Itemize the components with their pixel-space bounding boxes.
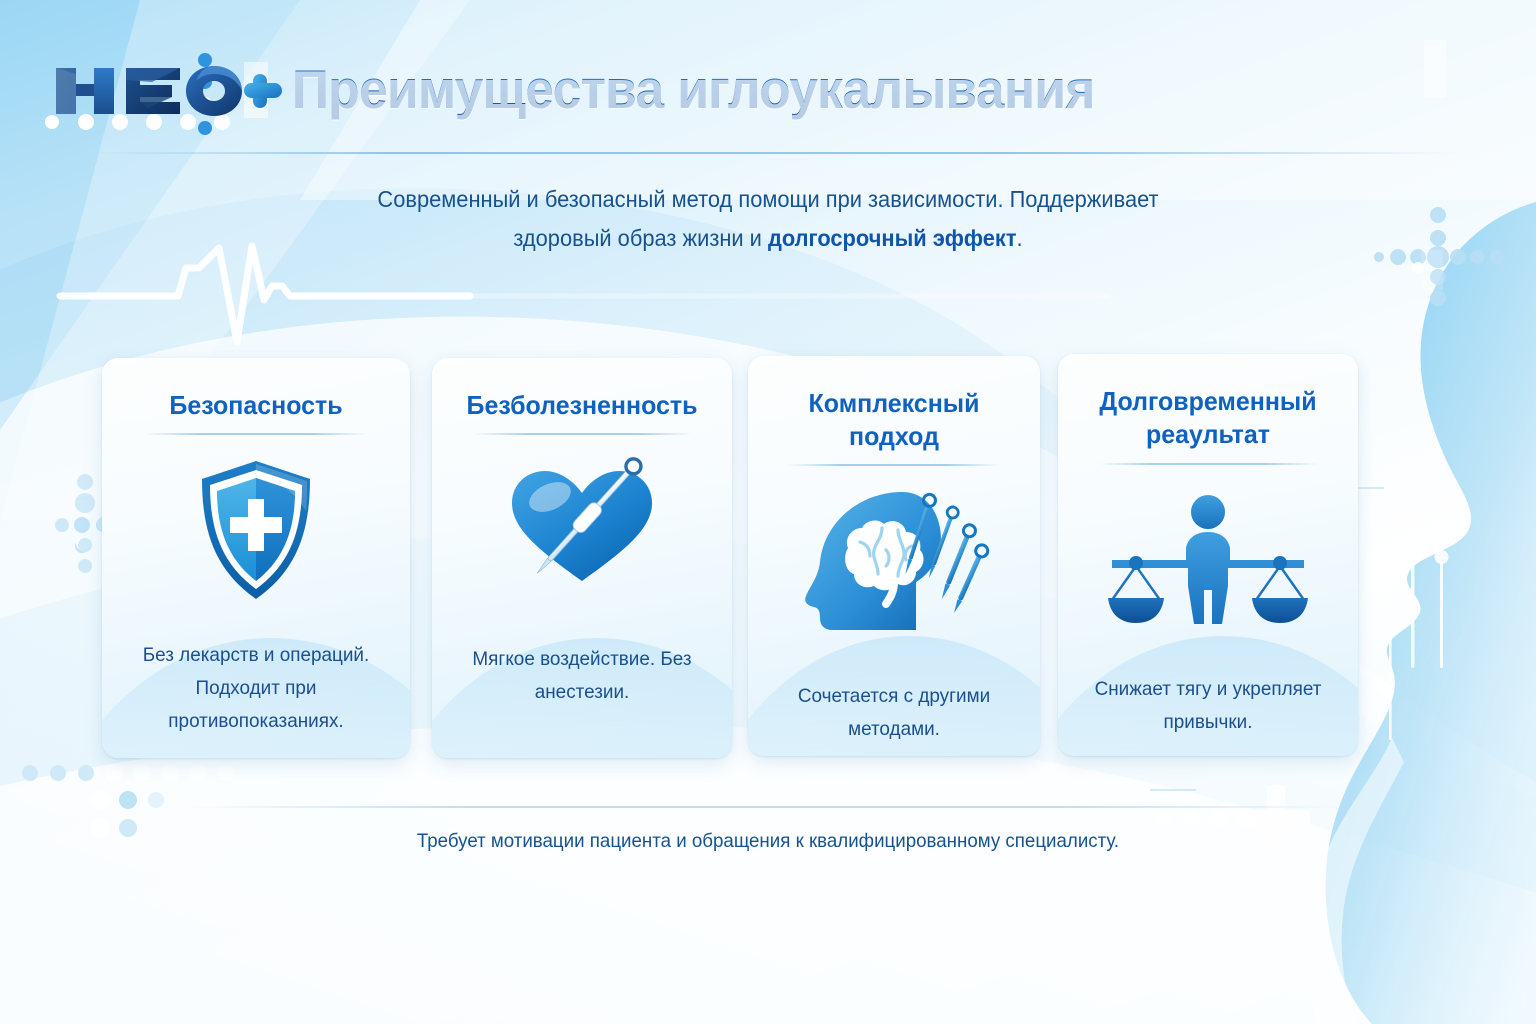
dotted-row-bottom-left <box>22 764 234 782</box>
subtitle: Современный и безопасный метод помощи пр… <box>293 180 1243 258</box>
card-title-rule <box>473 433 692 435</box>
dotted-row-bottom-right <box>1155 808 1257 828</box>
brand-logo-neo-plus <box>48 52 288 128</box>
subtitle-highlight: долгосрочный эффект <box>768 225 1017 251</box>
heartbeat-ecg-line <box>60 246 470 342</box>
benefit-card-painless[interactable]: Безболезненность <box>432 358 732 758</box>
card-text: Снижает тягу и укрепляет привычки. <box>1063 673 1354 739</box>
page-title: Преимущества иглоукалывания <box>292 52 1095 126</box>
subtitle-line-2-prefix: здоровый образ жизни и <box>513 225 768 251</box>
infographic-canvas: Преимущества иглоукалывания Современный … <box>0 0 1536 1024</box>
footer-divider <box>186 806 1346 808</box>
benefit-card-long-term-result[interactable]: Долговременный реаультат <box>1058 354 1358 756</box>
card-title: Долговременный реаультат <box>1064 385 1352 451</box>
dotted-accent-top-right-white <box>1412 250 1443 290</box>
heart-needle-icon <box>500 455 665 605</box>
card-icon-slot <box>748 486 1040 636</box>
card-icon-slot <box>102 455 410 605</box>
card-icon-slot <box>1058 485 1358 635</box>
card-title-rule <box>1099 463 1318 465</box>
card-title-rule <box>787 464 1000 466</box>
footer-note: Требует мотивации пациента и обращения к… <box>31 826 1506 856</box>
card-text: Сочетается с другими методами. <box>752 680 1035 746</box>
shield-cross-icon <box>190 455 322 605</box>
benefit-card-safety[interactable]: Безопасность <box>102 358 410 758</box>
head-brain-needles-icon <box>794 486 994 636</box>
card-title-rule <box>144 433 369 435</box>
card-title: Безопасность <box>108 389 404 422</box>
subtitle-line-2-suffix: . <box>1017 225 1023 251</box>
header: Преимущества иглоукалывания <box>0 0 1536 152</box>
card-text: Мягкое воздействие. Без анестезии. <box>437 643 728 709</box>
benefit-card-complex-approach[interactable]: Комплексный подход <box>748 356 1040 756</box>
card-text: Без лекарств и операций. Подходит при пр… <box>107 639 406 738</box>
person-scales-icon <box>1108 490 1308 630</box>
card-title: Безболезненность <box>438 389 726 422</box>
background-swoosh-4 <box>0 724 1536 1024</box>
header-divider <box>90 152 1460 154</box>
card-icon-slot <box>432 455 732 605</box>
benefit-cards: Безопасность <box>0 358 1536 760</box>
dotted-cross-pattern-top-right <box>1374 207 1504 306</box>
subtitle-line-1: Современный и безопасный метод помощи пр… <box>377 186 1158 212</box>
card-title: Комплексный подход <box>754 387 1034 453</box>
